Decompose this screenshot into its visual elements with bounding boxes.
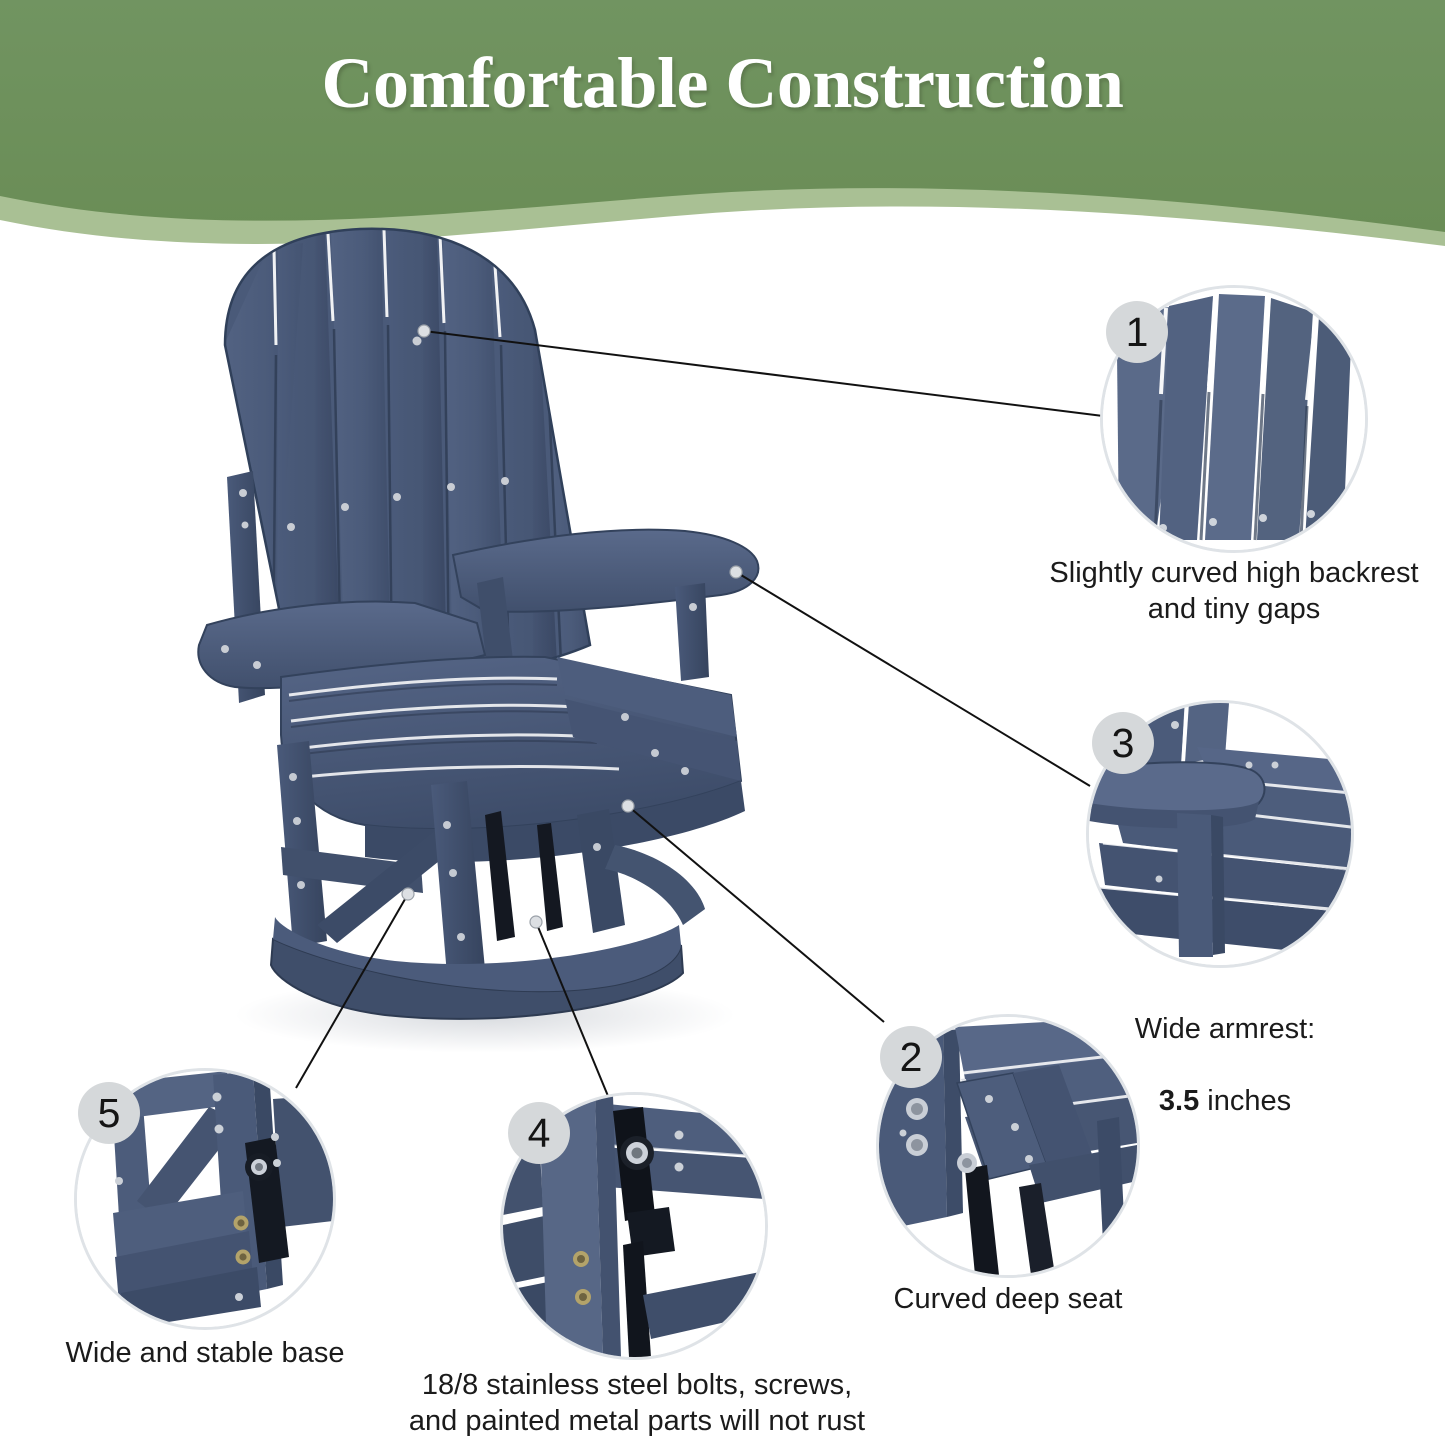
- callout-3: 3: [1086, 700, 1354, 968]
- callout-3-badge: 3: [1092, 712, 1154, 774]
- callout-3-caption-unit: inches: [1199, 1085, 1291, 1117]
- pivot-bolt: [620, 1136, 654, 1170]
- callout-3-caption-line1: Wide armrest:: [1135, 1013, 1315, 1045]
- page-title: Comfortable Construction: [0, 42, 1445, 125]
- callout-5: 5: [74, 1068, 336, 1330]
- base-bolt: [245, 1153, 273, 1181]
- callout-4-badge: 4: [508, 1102, 570, 1164]
- callout-3-caption-value: 3.5: [1159, 1085, 1199, 1117]
- product-image-chair: [185, 225, 805, 1055]
- header-band: Comfortable Construction: [0, 0, 1445, 260]
- callout-1-caption: Slightly curved high backrest and tiny g…: [1012, 556, 1445, 628]
- right-arm-post: [675, 583, 709, 681]
- callout-2: 2: [876, 1014, 1140, 1278]
- infographic-canvas: Comfortable Construction: [0, 0, 1445, 1445]
- callout-1-badge: 1: [1106, 301, 1168, 363]
- callout-1: 1: [1100, 285, 1368, 553]
- callout-2-caption: Curved deep seat: [848, 1282, 1168, 1318]
- callout-5-caption: Wide and stable base: [40, 1336, 370, 1372]
- callout-4-caption: 18/8 stainless steel bolts, screws, and …: [392, 1368, 882, 1440]
- callout-4: 4: [500, 1092, 768, 1360]
- callout-5-badge: 5: [78, 1082, 140, 1144]
- callout-2-badge: 2: [880, 1026, 942, 1088]
